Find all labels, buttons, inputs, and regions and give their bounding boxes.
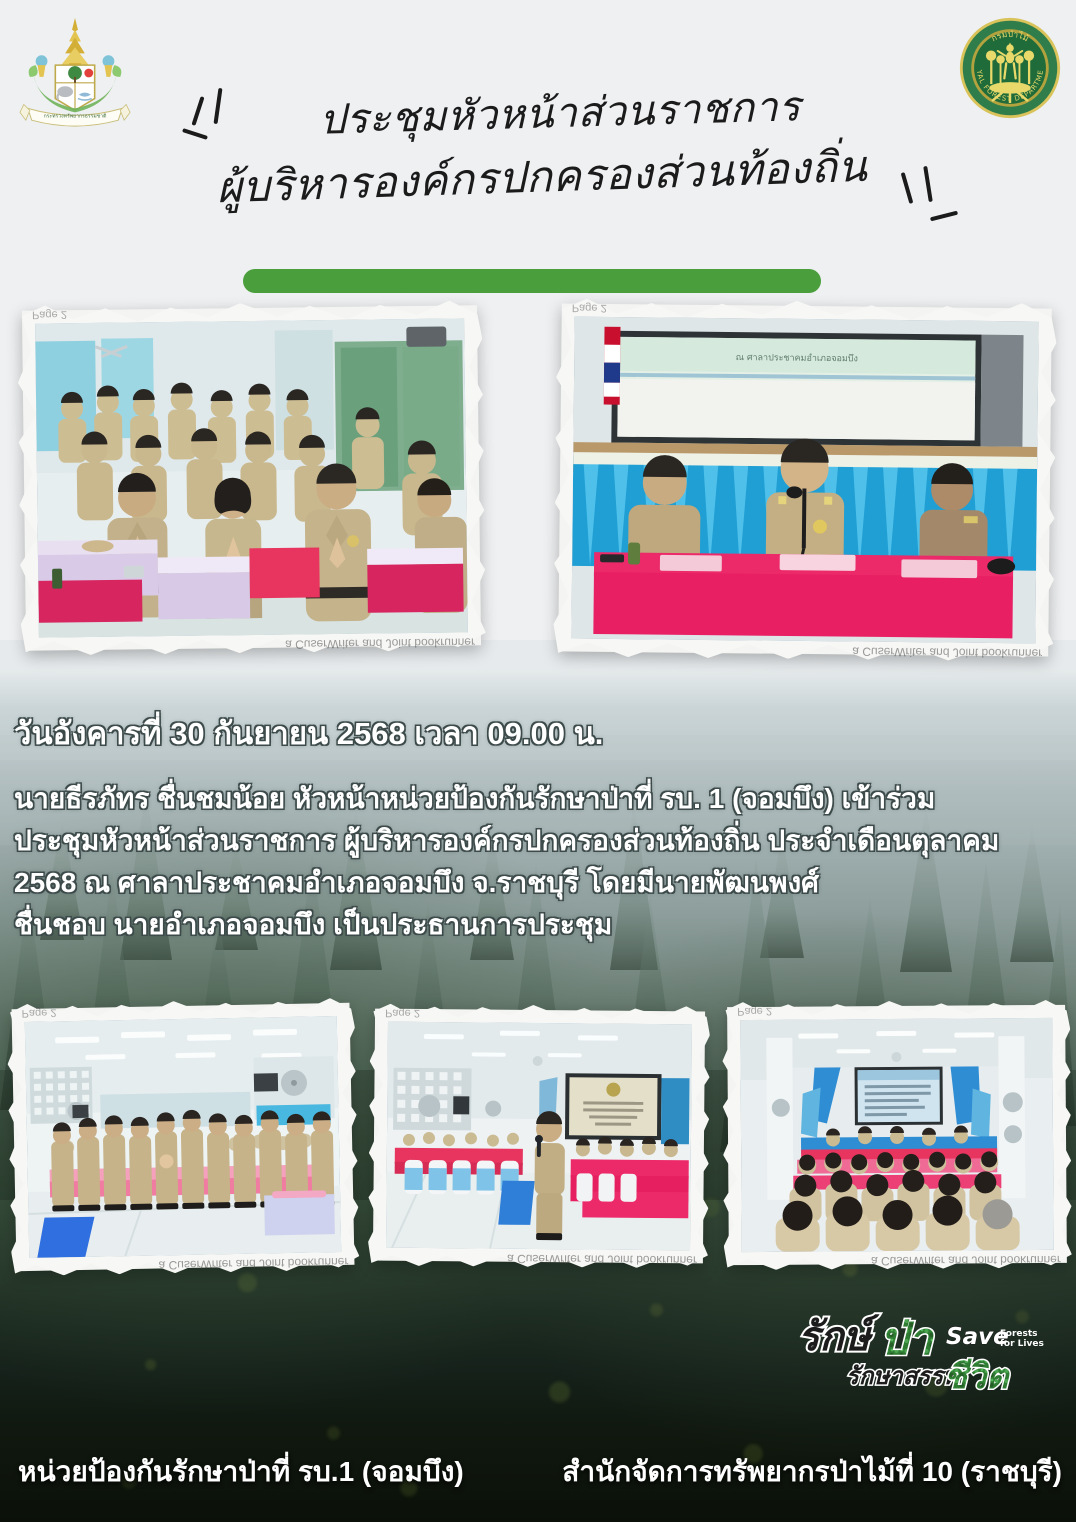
photo-group-line-up: Page 2 a CuserWriter and Joint bookrunne… [12, 1003, 355, 1271]
logo-text-for-lives: for Lives [1000, 1339, 1044, 1349]
save-forests-for-lives-logo-icon: รักษ์ ป่า Save Forests for Lives รักษาสร… [794, 1308, 1052, 1414]
photo-image [740, 1018, 1054, 1252]
photo-watermark: Page 2 [737, 1005, 772, 1017]
photo-image [35, 318, 468, 637]
logo-text-pa: ป่า [880, 1314, 935, 1365]
photo-audience-hall: Page 2 a CuserWriter and Joint bookrunne… [727, 1005, 1067, 1265]
photo-officials-standing-prayer: Page 2 a CuserWriter and Joint bookrunne… [22, 305, 481, 651]
footer-office-label: สำนักจัดการทรัพยากรป่าไม้ที่ 10 (ราชบุรี… [562, 1450, 1062, 1494]
photo-image [25, 1016, 341, 1258]
article-body: วันอังคารที่ 30 กันยายน 2568 เวลา 09.00 … [14, 712, 1064, 946]
footer-unit-label: หน่วยป้องกันรักษาป่าที่ รบ.1 (จอมบึง) [18, 1450, 464, 1494]
event-description-paragraph: นายธีรภัทร ชื่นชมน้อย หัวหน้าหน่วยป้องกั… [14, 778, 1064, 946]
photo-image [386, 1022, 692, 1251]
poster-footer: หน่วยป้องกันรักษาป่าที่ รบ.1 (จอมบึง) สำ… [0, 1412, 1076, 1522]
logo-text-rak: รักษ์ [798, 1314, 880, 1360]
event-date-line: วันอังคารที่ 30 กันยายน 2568 เวลา 09.00 … [14, 712, 1064, 756]
logo-text-forests: Forests [1000, 1329, 1038, 1339]
photo-watermark: Page 2 [385, 1007, 420, 1019]
title-accent-bar [243, 269, 821, 293]
page-title: ประชุมหัวหน้าส่วนราชการ ผู้บริหารองค์กรป… [120, 82, 1000, 210]
svg-text:กระทรวงทรัพยากรธรรมชาติ: กระทรวงทรัพยากรธรรมชาติ [44, 112, 107, 119]
logo-text-chiwit: ชีวิต [944, 1357, 1010, 1397]
title-spark-decoration [930, 211, 958, 222]
photo-watermark: Page 2 [32, 308, 67, 320]
ministry-emblem-icon: กระทรวงทรัพยากรธรรมชาติ [16, 14, 134, 132]
photo-head-table-panel: ณ ศาลาประชาคมอำเภอจอมบึง [558, 303, 1052, 656]
poster-header: กระทรวงทรัพยากรธรรมชาติ กรมป่าไม้ ROYAL … [0, 0, 1076, 310]
photo-speaker-with-microphone: Page 2 a CuserWriter and Joint bookrunne… [373, 1009, 705, 1264]
screen-caption-text: ณ ศาลาประชาคมอำเภอจอมบึง [736, 352, 858, 364]
photo-image: ณ ศาลาประชาคมอำเภอจอมบึง [571, 317, 1038, 644]
photo-watermark: Page 2 [21, 1006, 56, 1019]
